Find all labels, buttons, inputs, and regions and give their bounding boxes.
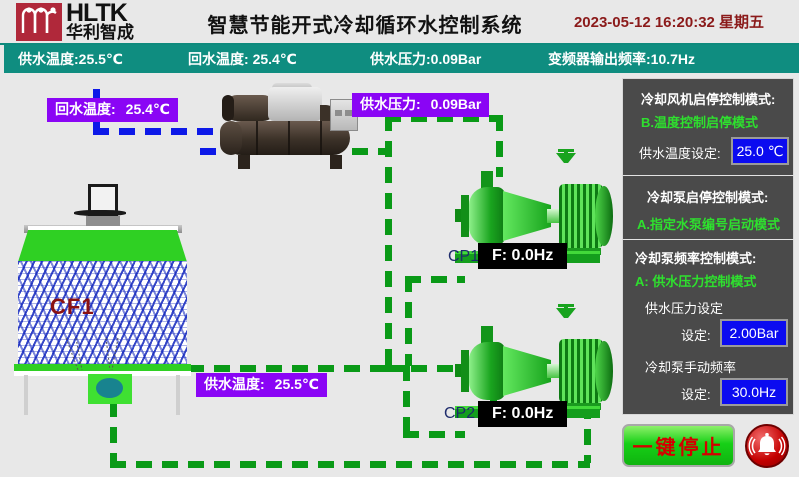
status-strip-left-cap: [0, 45, 4, 73]
status-value: 10.7Hz: [651, 51, 695, 67]
alarm-bell-icon[interactable]: [745, 424, 789, 468]
control-panel: 冷却风机启停控制模式: B.温度控制启停模式 供水温度设定: 25.0 ℃ 冷却…: [622, 78, 794, 415]
manual-freq-label: 设定:: [681, 384, 711, 403]
pressure-setpoint-label: 设定:: [681, 325, 711, 344]
chiller-motor-end: [222, 95, 234, 121]
page-title: 智慧节能开式冷却循环水控制系统: [175, 9, 555, 38]
pump-cp1-frequency: F: 0.0Hz: [478, 243, 567, 269]
pipe-return-to-chiller: [93, 128, 218, 135]
chiller-band: [256, 121, 258, 155]
chiller-band: [288, 121, 290, 155]
cp2-adapter: [503, 346, 551, 396]
pump-freq-mode-title: 冷却泵频率控制模式:: [635, 248, 756, 267]
chiller-foot: [330, 155, 342, 169]
cp2-motor-cap: [595, 341, 613, 401]
cooling-tower-cf1[interactable]: CF1: [10, 178, 195, 408]
cp1-adapter: [503, 191, 551, 241]
pump-start-mode-value[interactable]: A.指定水泵编号启动模式: [637, 214, 780, 233]
one-key-stop-label: 一键停止: [633, 431, 725, 460]
tag-label: 供水温度:: [204, 376, 265, 392]
status-strip: 供水温度:25.5℃ 回水温度: 25.4℃ 供水压力:0.09Bar 变频器输…: [0, 45, 799, 73]
cp1-volute: [469, 187, 505, 245]
tower-sump-valve[interactable]: [96, 378, 123, 398]
tower-label: CF1: [50, 294, 95, 320]
manual-freq-title: 冷却泵手动频率: [645, 357, 736, 376]
pipe-left-riser: [385, 115, 392, 365]
status-return-temp: 回水温度: 25.4℃: [188, 49, 297, 69]
cp2-flange: [461, 350, 469, 392]
tag-label: 回水温度:: [55, 101, 116, 117]
status-value: 25.5℃: [79, 51, 123, 67]
manual-freq-field[interactable]: 30.0Hz: [720, 378, 788, 406]
status-vfd-frequency: 变频器输出频率:10.7Hz: [548, 49, 695, 69]
panel-divider: [623, 175, 795, 176]
tag-label: 供水压力:: [360, 96, 421, 112]
brand-lockup: HLTK 华利智成: [66, 0, 176, 44]
chiller-compressor: [268, 87, 322, 121]
cp1-valve-icon[interactable]: [556, 149, 576, 169]
one-key-stop-button[interactable]: 一键停止: [622, 424, 735, 467]
tag-value: 25.4℃: [126, 101, 170, 117]
cp2-volute: [469, 342, 505, 400]
tag-supply-pressure: 供水压力:0.09Bar: [352, 93, 489, 117]
tower-leg-left: [24, 375, 28, 415]
cp1-motor-cap: [595, 186, 613, 246]
tower-leg-right: [176, 375, 180, 415]
pump-cp2-frequency: F: 0.0Hz: [478, 401, 567, 427]
tag-value: 0.09Bar: [431, 96, 482, 112]
pressure-setpoint-field[interactable]: 2.00Bar: [720, 319, 788, 347]
fan-setpoint-label: 供水温度设定:: [639, 143, 721, 162]
fan-setpoint-field[interactable]: 25.0 ℃: [731, 137, 789, 165]
hltk-logo-icon: [16, 3, 62, 41]
fan-mode-title: 冷却风机启停控制模式:: [641, 89, 775, 108]
chiller-shell-cap: [220, 121, 242, 155]
status-label: 变频器输出频率:: [548, 51, 651, 67]
fan-mode-value[interactable]: B.温度控制启停模式: [641, 112, 758, 131]
app-header: HLTK 华利智成 智慧节能开式冷却循环水控制系统 2023-05-12 16:…: [0, 0, 799, 44]
datetime-display: 2023-05-12 16:20:32 星期五: [545, 11, 793, 32]
pump-start-mode-title: 冷却泵启停控制模式:: [647, 187, 768, 206]
cp1-flange: [461, 195, 469, 237]
pump-cp2-tag: CP2: [444, 405, 475, 423]
tower-shoulder: [18, 230, 187, 262]
panel-divider: [623, 239, 795, 240]
pipe-cp1-suction: [405, 276, 465, 283]
status-label: 回水温度:: [188, 51, 249, 67]
tag-return-temp: 回水温度:25.4℃: [47, 98, 178, 122]
pressure-setpoint-title: 供水压力设定: [645, 298, 723, 317]
status-supply-pressure: 供水压力:0.09Bar: [370, 49, 481, 69]
chiller-band: [320, 121, 322, 155]
cp2-valve-icon[interactable]: [556, 304, 576, 324]
status-label: 供水温度:: [18, 51, 79, 67]
pipe-cp1-branch: [405, 276, 412, 366]
brand-name-cn: 华利智成: [66, 24, 134, 42]
status-label: 供水压力:: [370, 51, 431, 67]
tower-spray-nozzle: [62, 336, 124, 374]
status-value: 25.4℃: [253, 51, 297, 67]
tag-value: 25.5℃: [275, 376, 319, 392]
pipe-cp2-branch: [403, 365, 410, 435]
pipe-down-to-cp1-valve: [496, 115, 503, 177]
tag-supply-temp: 供水温度:25.5℃: [196, 373, 327, 397]
pump-cp1-tag: CP1: [448, 248, 479, 266]
chiller-foot: [238, 155, 250, 169]
hmi-screen: HLTK 华利智成 智慧节能开式冷却循环水控制系统 2023-05-12 16:…: [0, 0, 799, 477]
chiller-unit[interactable]: [212, 81, 360, 169]
status-value: 0.09Bar: [431, 51, 482, 67]
status-supply-temp: 供水温度:25.5℃: [18, 49, 123, 69]
pump-freq-mode-value[interactable]: A: 供水压力控制模式: [635, 271, 756, 290]
pipe-cp2-suction: [403, 431, 465, 438]
pipe-bottom-header: [110, 461, 590, 468]
